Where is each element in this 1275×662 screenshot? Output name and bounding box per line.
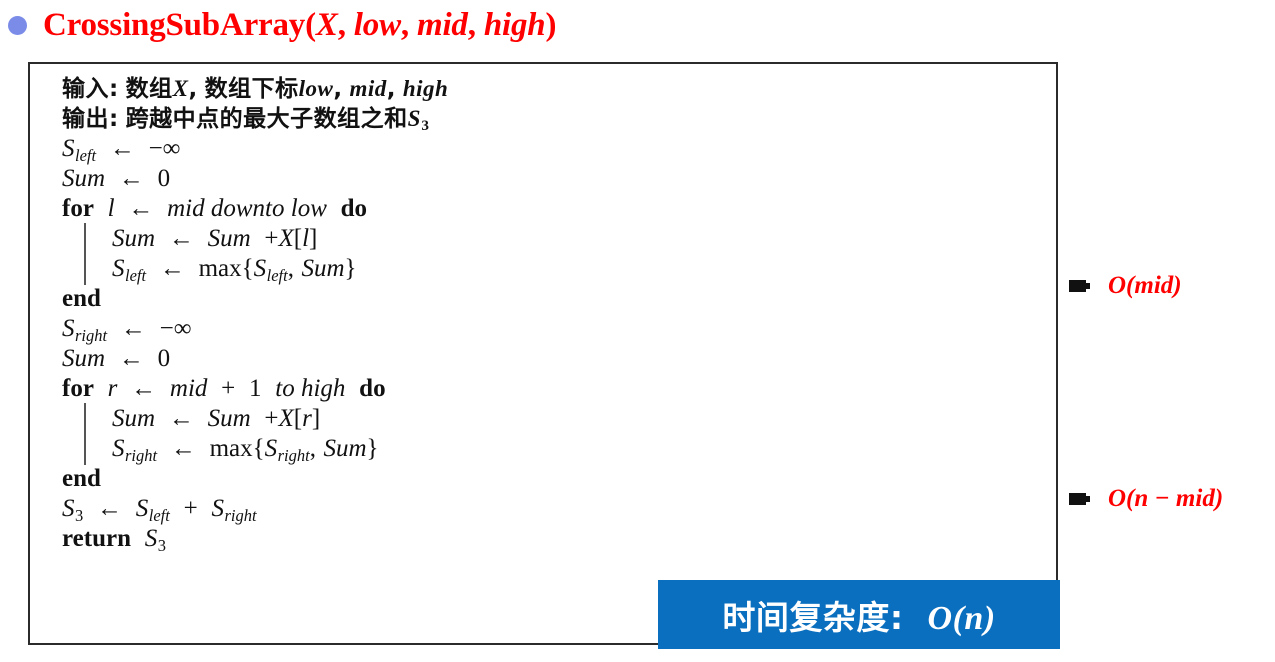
algorithm-line-3: forl←mid downto lowdo bbox=[62, 194, 1050, 224]
banner-label: 时间复杂度: bbox=[722, 598, 903, 637]
algorithm-lines: 输入:数组X,数组下标low,mid,high 输出:跨越中点的最大子数组之和S… bbox=[62, 74, 1050, 554]
algorithm-box: 输入:数组X,数组下标low,mid,high 输出:跨越中点的最大子数组之和S… bbox=[28, 62, 1058, 645]
complexity-annotation-second-loop: O(n − mid) bbox=[1063, 433, 1223, 564]
algorithm-line-1: Sleft←−∞ bbox=[62, 134, 1050, 164]
algorithm-line-11: Sright←max{Sright,Sum} bbox=[62, 434, 1050, 464]
page-title: CrossingSubArray(X, low, mid, high) bbox=[8, 2, 556, 48]
bullet-icon bbox=[8, 16, 27, 35]
algorithm-line-8: Sum←0 bbox=[62, 344, 1050, 374]
input-label: 输入: bbox=[62, 76, 119, 102]
complexity-label-mid: O(mid) bbox=[1108, 272, 1182, 300]
algorithm-line-12: end bbox=[62, 464, 1050, 494]
output-label: 输出: bbox=[62, 106, 119, 132]
algorithm-line-14: returnS3 bbox=[62, 524, 1050, 554]
total-complexity-text: 时间复杂度: O(n) bbox=[722, 591, 995, 639]
algorithm-line-10: Sum←Sum+X[r] bbox=[62, 404, 1050, 434]
algorithm-line-5: Sleft←max{Sleft,Sum} bbox=[62, 254, 1050, 284]
algorithm-line-13: S3←Sleft+Sright bbox=[62, 494, 1050, 524]
total-complexity-banner: 时间复杂度: O(n) bbox=[658, 580, 1060, 649]
banner-value: O(n) bbox=[928, 600, 996, 637]
algorithm-line-4: Sum←Sum+X[l] bbox=[62, 224, 1050, 254]
algorithm-output-line: 输出:跨越中点的最大子数组之和S3 bbox=[62, 104, 1050, 134]
algorithm-line-2: Sum←0 bbox=[62, 164, 1050, 194]
complexity-label-n-minus-mid: O(n − mid) bbox=[1108, 485, 1223, 513]
algorithm-input-line: 输入:数组X,数组下标low,mid,high bbox=[62, 74, 1050, 104]
page-title-text: CrossingSubArray(X, low, mid, high) bbox=[43, 7, 556, 44]
algorithm-line-7: Sright←−∞ bbox=[62, 314, 1050, 344]
complexity-annotation-first-loop: O(mid) bbox=[1063, 224, 1182, 348]
algorithm-line-9: forr←mid+1to highdo bbox=[62, 374, 1050, 404]
algorithm-line-6: end bbox=[62, 284, 1050, 314]
